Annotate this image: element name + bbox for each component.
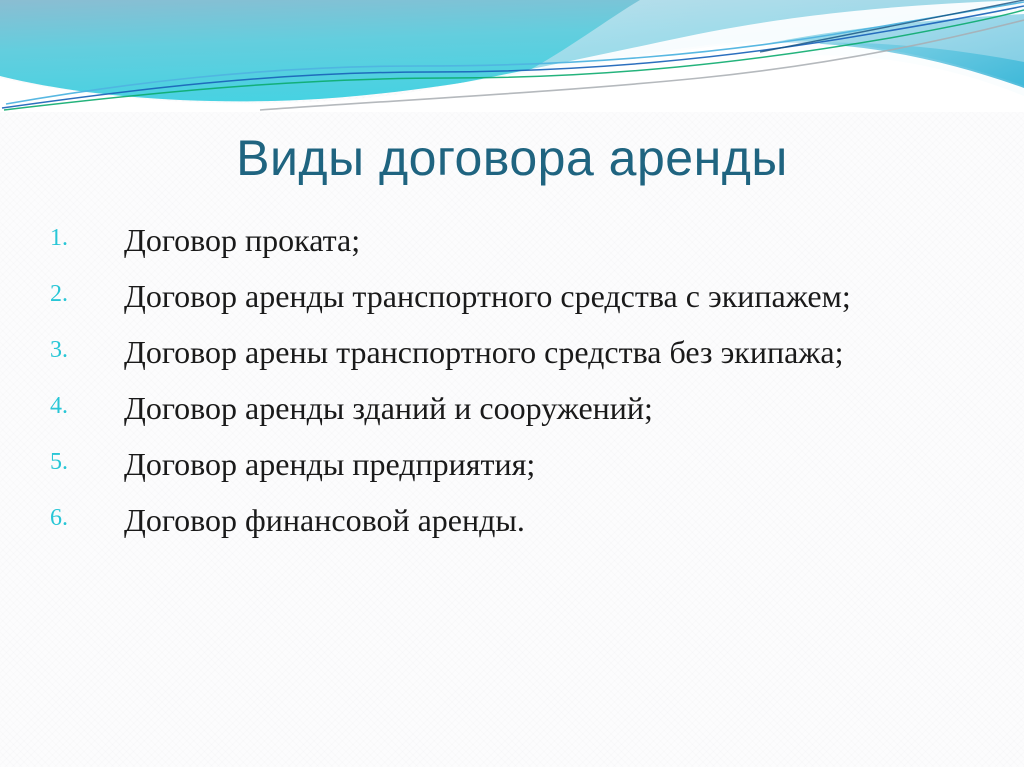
content-body: 1. Договор проката; 2. Договор аренды тр… (46, 218, 946, 542)
list-item: 5. Договор аренды предприятия; (46, 442, 946, 486)
list-item: 3. Договор арены транспортного средства … (46, 330, 946, 374)
wave-accent-line-blue (2, 6, 1024, 108)
list-item-label: Договор аренды зданий и сооружений; (124, 386, 924, 430)
list-item-label: Договор аренды транспортного средства с … (124, 274, 924, 318)
list-item: 6. Договор финансовой аренды. (46, 498, 946, 542)
list-item-label: Договор аренды предприятия; (124, 442, 924, 486)
wave-right-band (770, 0, 1024, 96)
list-item-label: Договор арены транспортного средства без… (124, 330, 924, 374)
page-title: Виды договора аренды (0, 128, 1024, 188)
wave-lower-white (0, 43, 1024, 112)
title-block: Виды договора аренды (0, 128, 1024, 188)
list-item-number: 6. (50, 502, 94, 534)
numbered-list: 1. Договор проката; 2. Договор аренды тр… (46, 218, 946, 542)
wave-accent-line-cyan (6, 2, 1024, 104)
list-item-number: 2. (50, 278, 94, 310)
list-item: 2. Договор аренды транспортного средства… (46, 274, 946, 318)
list-item: 4. Договор аренды зданий и сооружений; (46, 386, 946, 430)
list-item-number: 3. (50, 334, 94, 366)
wave-main-band (0, 0, 1024, 101)
wave-pale-band (500, 0, 1024, 86)
list-item-label: Договор проката; (124, 218, 924, 262)
list-item-label: Договор финансовой аренды. (124, 498, 924, 542)
decorative-wave-banner (0, 0, 1024, 112)
wave-white-swoosh (300, 0, 1024, 112)
wave-accent-line-gray (260, 20, 1024, 110)
list-item-number: 4. (50, 390, 94, 422)
list-item: 1. Договор проката; (46, 218, 946, 262)
wave-accent-line-dark (760, 0, 1024, 52)
wave-accent-line-green (4, 10, 1024, 110)
list-item-number: 5. (50, 446, 94, 478)
presentation-slide: Виды договора аренды 1. Договор проката;… (0, 0, 1024, 767)
list-item-number: 1. (50, 222, 94, 254)
